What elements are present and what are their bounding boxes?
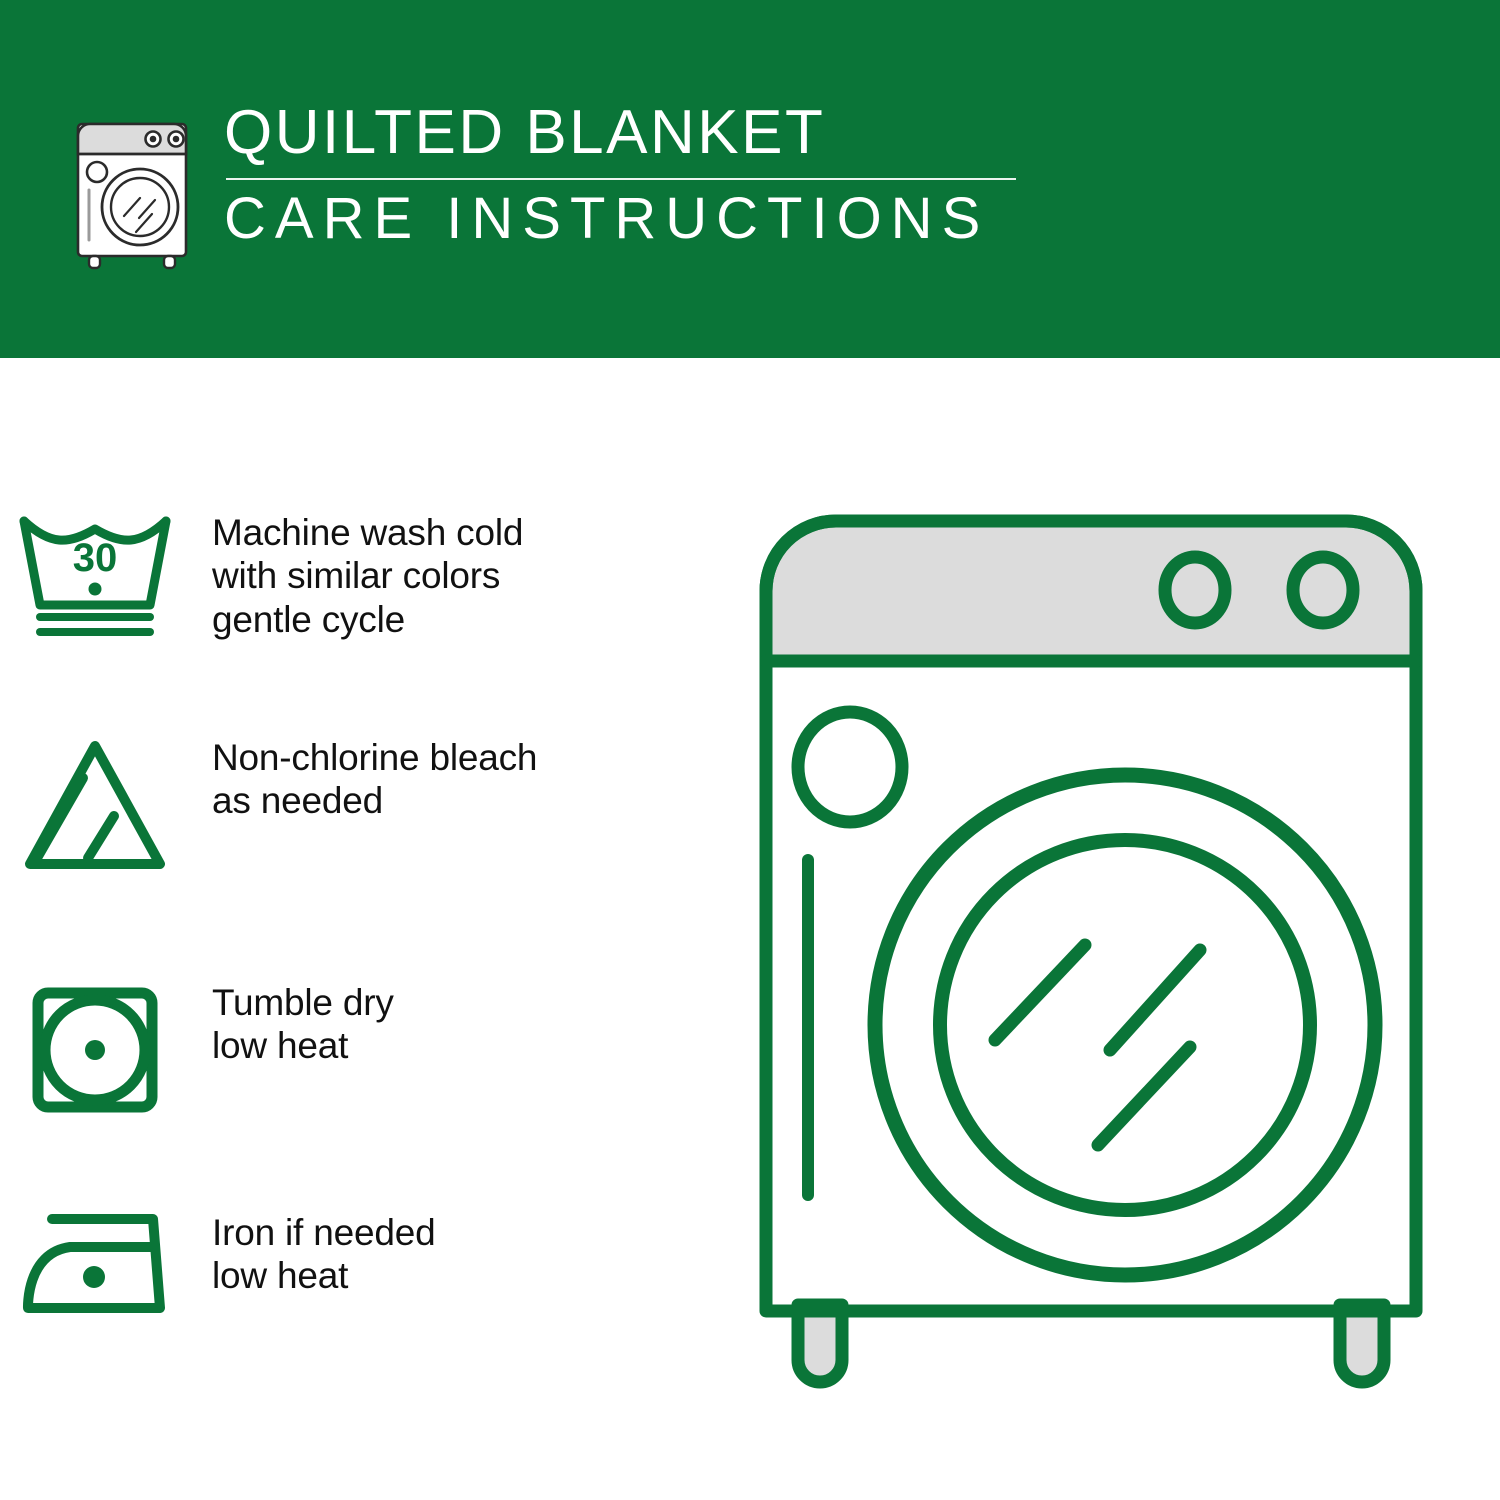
iron-icon bbox=[0, 1205, 190, 1325]
care-item-wash: 30 Machine wash cold with similar colors… bbox=[0, 505, 523, 641]
care-item-tumble-dry-label: Tumble dry low heat bbox=[212, 975, 394, 1068]
care-line: low heat bbox=[212, 1254, 435, 1297]
care-item-tumble-dry: Tumble dry low heat bbox=[0, 975, 394, 1125]
wash-tub-30-icon: 30 bbox=[0, 505, 190, 640]
care-instructions-page: QUILTED BLANKET CARE INSTRUCTIONS 30 bbox=[0, 0, 1500, 1500]
care-item-bleach-label: Non-chlorine bleach as needed bbox=[212, 730, 537, 823]
care-line: gentle cycle bbox=[212, 598, 523, 641]
care-line: as needed bbox=[212, 779, 537, 822]
header-title-group: QUILTED BLANKET CARE INSTRUCTIONS bbox=[224, 98, 1016, 248]
care-line: Machine wash cold bbox=[212, 511, 523, 554]
washing-machine-illustration bbox=[740, 495, 1460, 1425]
page-subtitle: CARE INSTRUCTIONS bbox=[224, 190, 1016, 248]
care-item-iron-label: Iron if needed low heat bbox=[212, 1205, 435, 1298]
wash-temp-value: 30 bbox=[73, 536, 118, 580]
washing-machine-icon bbox=[60, 106, 210, 271]
care-line: with similar colors bbox=[212, 554, 523, 597]
care-item-wash-label: Machine wash cold with similar colors ge… bbox=[212, 505, 523, 641]
header-content: QUILTED BLANKET CARE INSTRUCTIONS bbox=[60, 98, 1016, 271]
title-divider bbox=[226, 178, 1016, 180]
care-line: low heat bbox=[212, 1024, 394, 1067]
care-line: Tumble dry bbox=[212, 981, 394, 1024]
tumble-dry-icon bbox=[0, 975, 190, 1125]
care-line: Iron if needed bbox=[212, 1211, 435, 1254]
bleach-triangle-icon bbox=[0, 730, 190, 880]
care-item-iron: Iron if needed low heat bbox=[0, 1205, 435, 1325]
care-line: Non-chlorine bleach bbox=[212, 736, 537, 779]
page-title: QUILTED BLANKET bbox=[224, 102, 1016, 164]
header-banner: QUILTED BLANKET CARE INSTRUCTIONS bbox=[0, 0, 1500, 358]
care-item-bleach: Non-chlorine bleach as needed bbox=[0, 730, 537, 880]
